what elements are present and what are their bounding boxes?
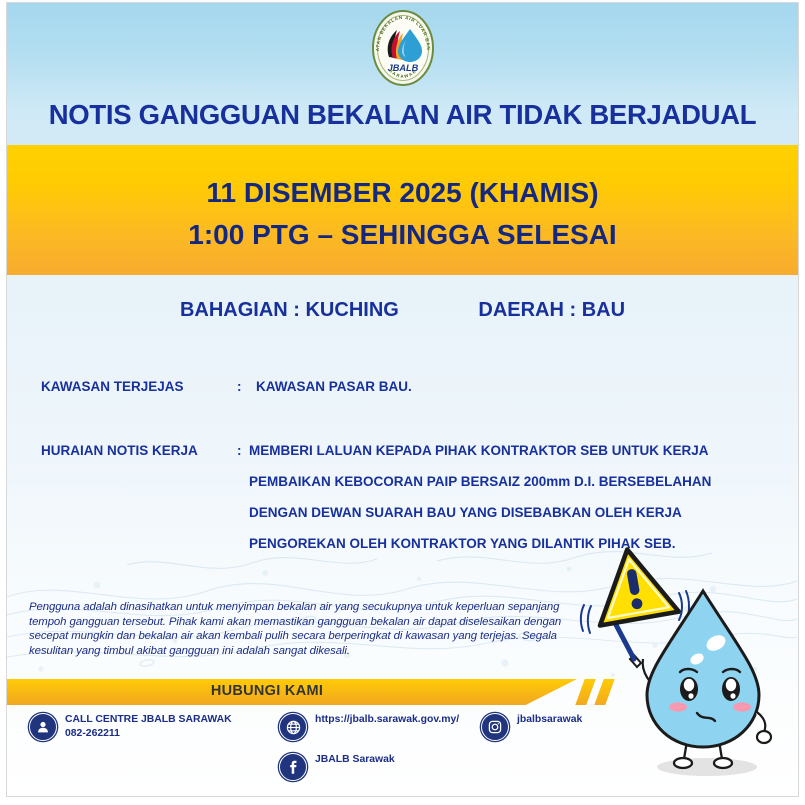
contact-text: CALL CENTRE JBALB SARAWAK 082-262211 [65, 713, 232, 740]
poster-header: JBALB JABATAN BEKALAN AIR LUAR BANDAR SA… [7, 3, 798, 145]
water-droplet-mascot [579, 543, 794, 788]
notice-date: 11 DISEMBER 2025 (KHAMIS) [7, 177, 798, 209]
region-row: BAHAGIAN : KUCHING DAERAH : BAU [7, 299, 798, 322]
contact-line-1: CALL CENTRE JBALB SARAWAK [65, 713, 232, 727]
instagram-icon-glyph [487, 719, 503, 735]
notice-poster: JBALB JABATAN BEKALAN AIR LUAR BANDAR SA… [0, 0, 805, 805]
contact-text: jbalbsarawak [517, 713, 582, 727]
huraian-label: HURAIAN NOTIS KERJA [41, 443, 198, 458]
contact-band-title: HUBUNGI KAMI [7, 683, 527, 699]
huraian-line: DENGAN DEWAN SUARAH BAU YANG DISEBABKAN … [249, 505, 711, 521]
bahagian-label: BAHAGIAN : KUCHING [180, 299, 399, 321]
contact-text: JBALB Sarawak [315, 753, 395, 767]
contact-line-1: jbalbsarawak [517, 713, 582, 727]
contact-line-1: https://jbalb.sarawak.gov.my/ [315, 713, 459, 727]
globe-icon [279, 713, 307, 741]
contact-text: https://jbalb.sarawak.gov.my/ [315, 713, 459, 727]
poster-body: BAHAGIAN : KUCHING DAERAH : BAU KAWASAN … [7, 275, 798, 796]
kawasan-value: KAWASAN PASAR BAU. [256, 379, 412, 394]
user-icon-glyph [35, 719, 51, 735]
kawasan-label: KAWASAN TERJEJAS [41, 379, 184, 394]
notice-time: 1:00 PTG – SEHINGGA SELESAI [7, 219, 798, 251]
kawasan-colon: : [237, 379, 242, 394]
instagram-icon [481, 713, 509, 741]
user-icon [29, 713, 57, 741]
jbalb-logo-icon: JBALB JABATAN BEKALAN AIR LUAR BANDAR SA… [370, 9, 436, 87]
huraian-colon: : [237, 443, 242, 458]
contact-line-1: JBALB Sarawak [315, 753, 395, 767]
field-kawasan-terjejas: KAWASAN TERJEJAS : KAWASAN PASAR BAU. [41, 379, 741, 399]
contact-line-2: 082-262211 [65, 727, 232, 741]
facebook-icon-glyph [284, 758, 302, 776]
date-time-band: 11 DISEMBER 2025 (KHAMIS) 1:00 PTG – SEH… [7, 145, 798, 275]
daerah-label: DAERAH : BAU [478, 299, 625, 321]
jbalb-logo: JBALB JABATAN BEKALAN AIR LUAR BANDAR SA… [370, 9, 436, 87]
huraian-line: MEMBERI LALUAN KEPADA PIHAK KONTRAKTOR S… [249, 443, 711, 459]
huraian-line: PEMBAIKAN KEBOCORAN PAIP BERSAIZ 200mm D… [249, 474, 711, 490]
globe-icon-glyph [285, 719, 302, 736]
page-title: NOTIS GANGGUAN BEKALAN AIR TIDAK BERJADU… [7, 99, 798, 131]
contact-band: HUBUNGI KAMI [7, 679, 577, 705]
disclaimer-text: Pengguna adalah dinasihatkan untuk menyi… [29, 600, 574, 658]
poster-frame: JBALB JABATAN BEKALAN AIR LUAR BANDAR SA… [6, 2, 799, 797]
facebook-icon [279, 753, 307, 781]
